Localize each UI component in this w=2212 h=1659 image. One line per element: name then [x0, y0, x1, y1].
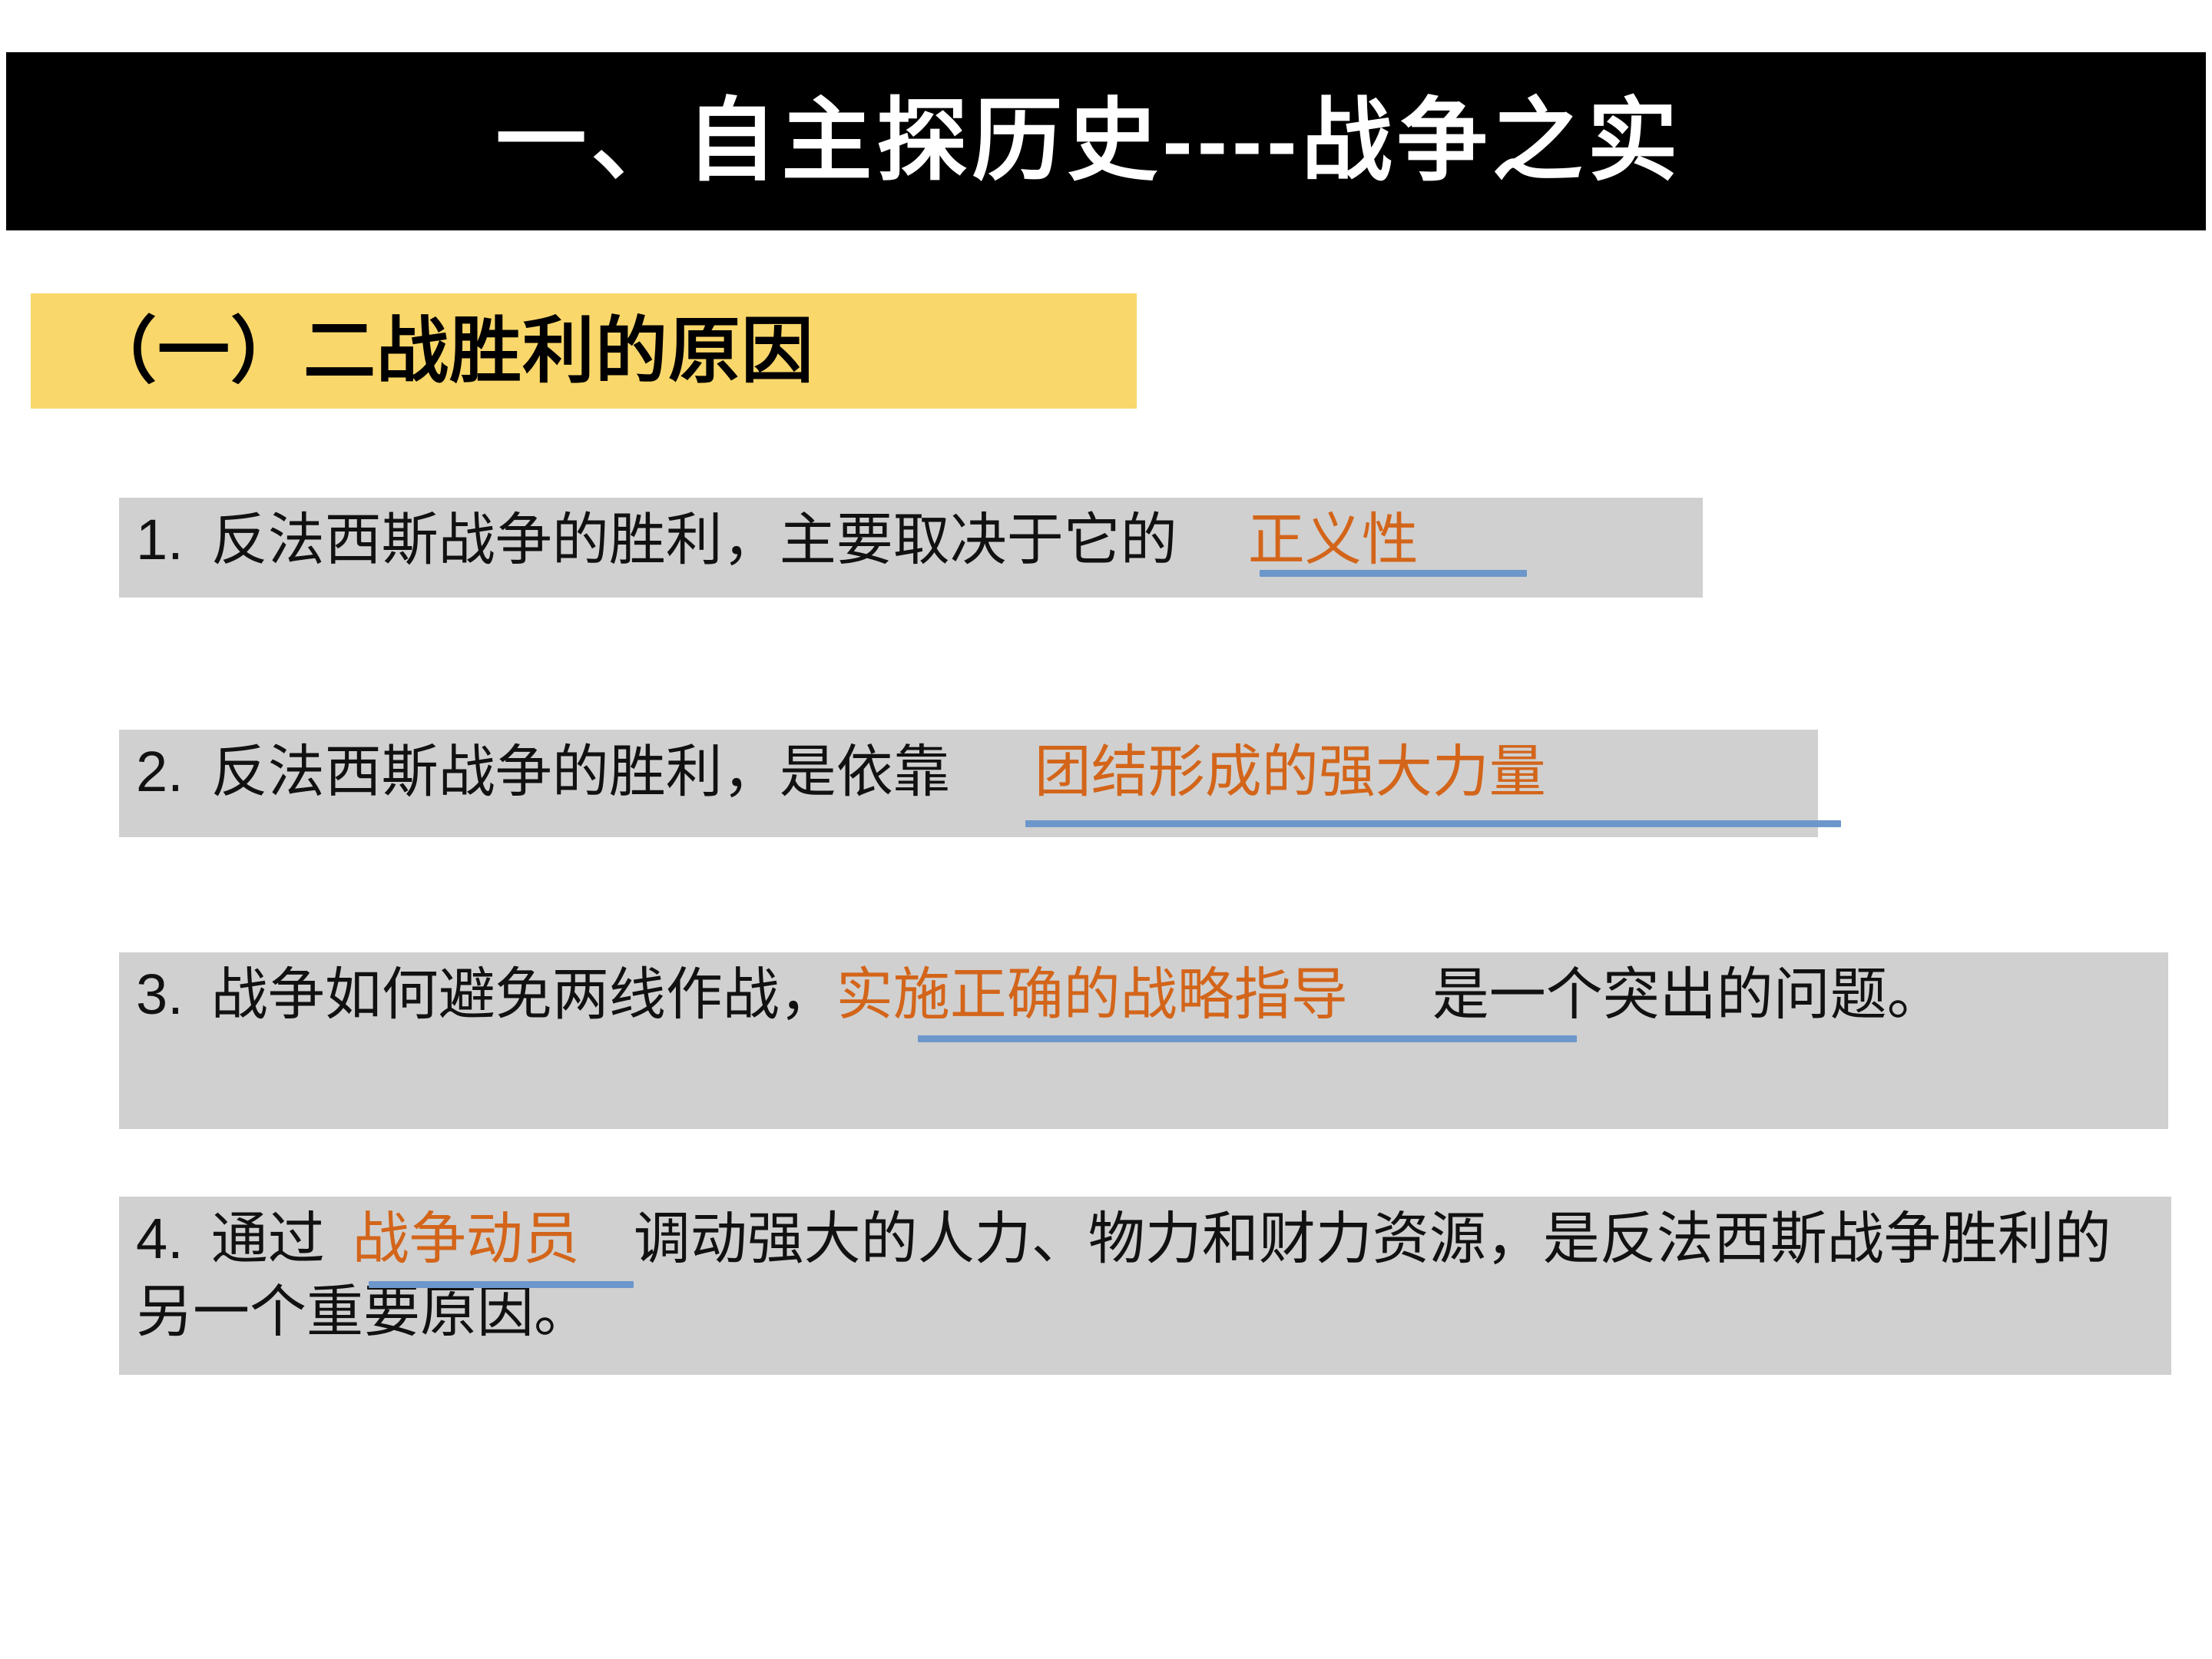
answer-blank-1: 正义性: [1231, 508, 1435, 571]
statement-trail-3: 是一个突出的问题。: [1432, 962, 1944, 1026]
answer-blank-2: 团结形成的强大力量: [1035, 740, 1546, 803]
statement-text-3: 3.战争如何避免两线作战，实施正确的战略指导是一个突出的问题。: [136, 959, 2162, 1031]
slide-title-bar: 一、自主探历史----战争之实: [6, 52, 2206, 230]
statement-panel-1: 1.反法西斯战争的胜利，主要取决于它的正义性: [119, 498, 1703, 598]
answer-underline-1: [1260, 570, 1527, 577]
page-title: 一、自主探历史----战争之实: [495, 96, 1682, 187]
statement-number-4: 4.: [136, 1207, 184, 1270]
section-heading-banner: （一）二战胜利的原因: [31, 293, 1137, 409]
statement-number-2: 2.: [136, 740, 184, 803]
statement-lead-2: 反法西斯战争的胜利，是依靠: [211, 740, 950, 803]
answer-blank-4: 战争动员: [353, 1207, 580, 1270]
answer-underline-3: [918, 1035, 1577, 1042]
statement-number-1: 1.: [136, 508, 184, 571]
section-heading-label: （一）二战胜利的原因: [31, 315, 814, 387]
statement-lead-4: 通过: [211, 1207, 325, 1270]
statement-lead-3: 战争如何避免两线作战，: [211, 962, 836, 1026]
answer-underline-4: [369, 1281, 634, 1288]
answer-blank-3: 实施正确的战略指导: [836, 962, 1348, 1026]
statement-number-3: 3.: [136, 962, 184, 1026]
statement-text-4: 4.通过战争动员调动强大的人力、物力和财力资源，是反法西斯战争胜利的另一个重要原…: [136, 1203, 2165, 1348]
statement-text-2: 2.反法西斯战争的胜利，是依靠团结形成的强大力量: [136, 736, 1818, 809]
answer-underline-2: [1025, 820, 1841, 827]
statement-lead-1: 反法西斯战争的胜利，主要取决于它的: [211, 508, 1177, 571]
statement-text-1: 1.反法西斯战争的胜利，主要取决于它的正义性: [136, 504, 1703, 577]
